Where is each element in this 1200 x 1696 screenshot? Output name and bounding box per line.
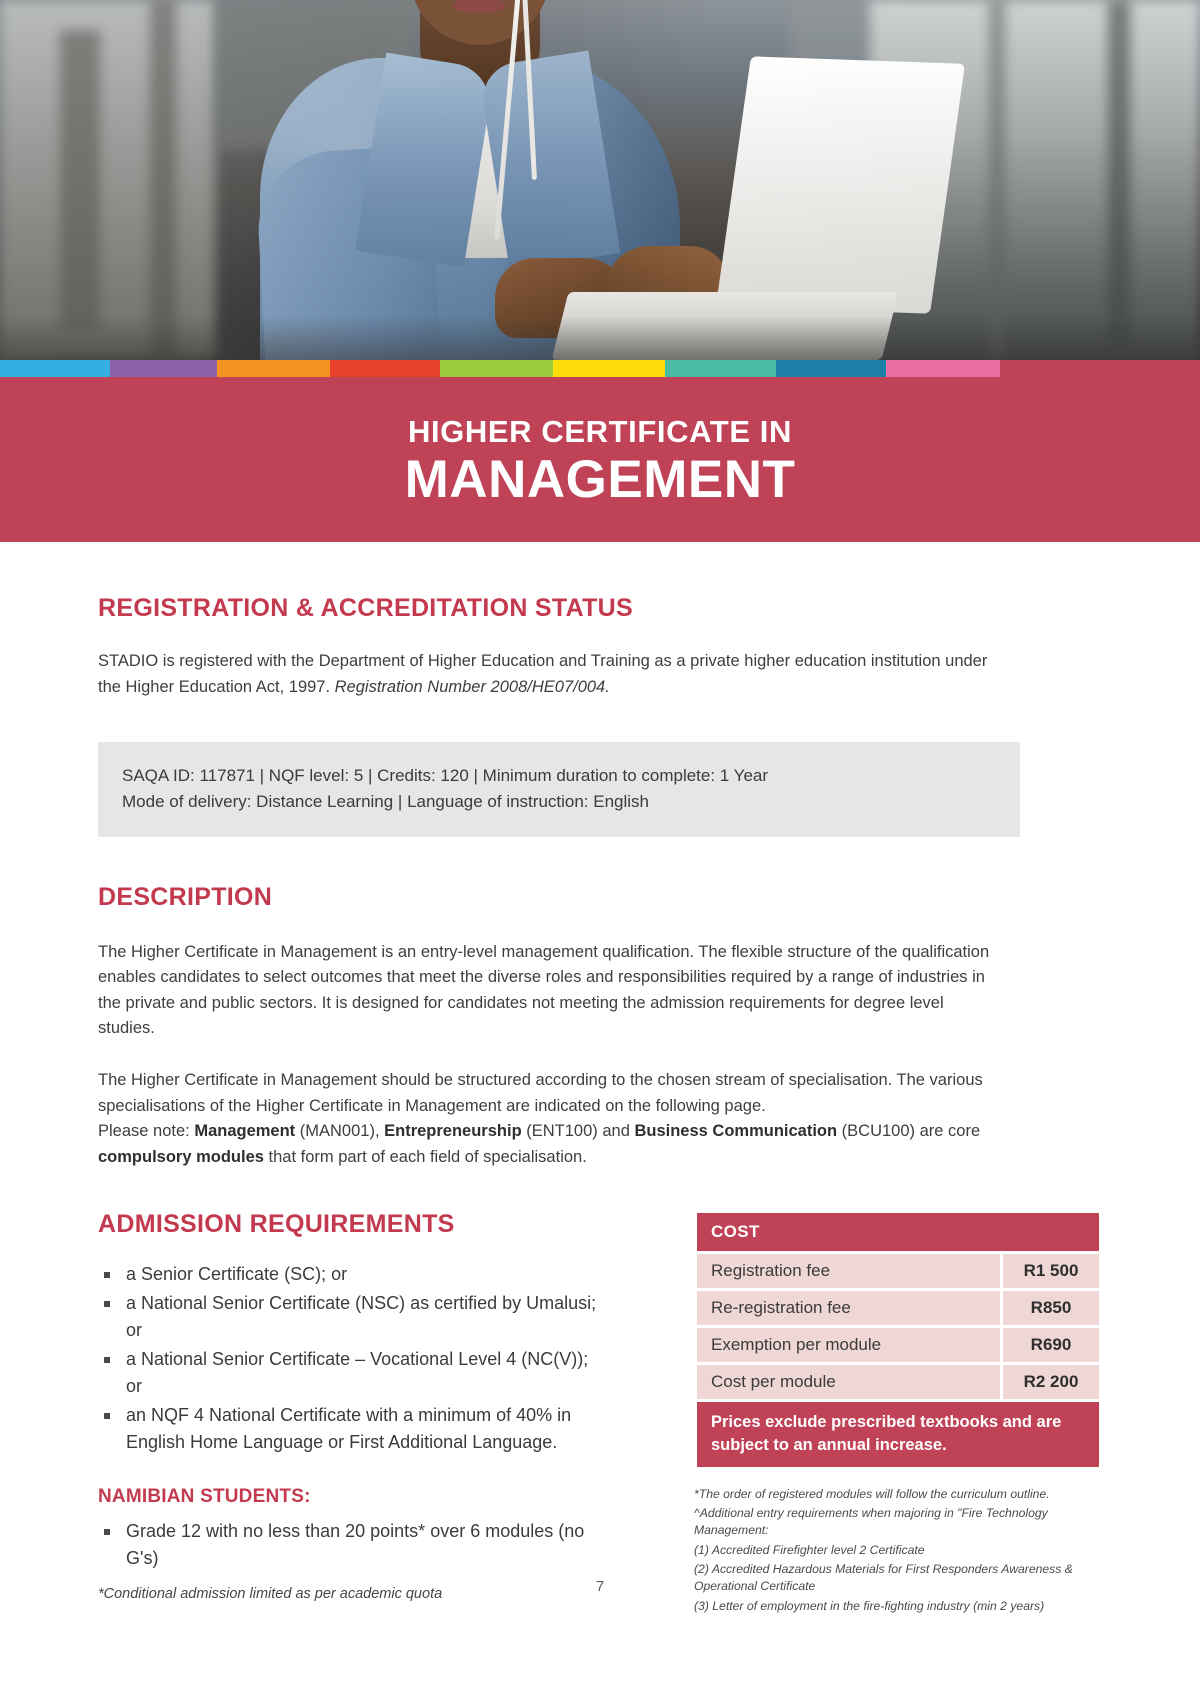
background-pillar-d	[989, 0, 1005, 360]
swatch-purple	[110, 360, 217, 377]
module-name-management: Management	[194, 1122, 295, 1140]
page-number: 7	[0, 1578, 1200, 1595]
namibian-students-heading: NAMIBIAN STUDENTS:	[98, 1486, 598, 1508]
please-note-suffix: that form part of each field of speciali…	[264, 1148, 587, 1166]
background-building-left	[0, 0, 215, 360]
registration-status-paragraph: STADIO is registered with the Department…	[98, 649, 988, 700]
please-note-prefix: Please note:	[98, 1122, 194, 1140]
background-pillar-c	[1108, 0, 1130, 360]
module-code-management: (MAN001),	[295, 1122, 384, 1140]
admission-requirements-heading: ADMISSION REQUIREMENTS	[98, 1210, 598, 1239]
description-heading: DESCRIPTION	[98, 883, 1102, 912]
module-name-entrepreneurship: Entrepreneurship	[384, 1122, 522, 1140]
description-please-note: Please note: Management (MAN001), Entrep…	[98, 1119, 1013, 1170]
module-code-entrepreneurship: (ENT100) and	[522, 1122, 635, 1140]
list-item: a National Senior Certificate (NSC) as c…	[98, 1290, 598, 1344]
cost-table-title: COST	[697, 1213, 1099, 1251]
cost-row-value: R1 500	[1003, 1254, 1099, 1288]
lips	[453, 0, 505, 13]
desk-surface	[0, 316, 1200, 360]
cost-row-label: Re-registration fee	[697, 1291, 1000, 1325]
swatch-pink	[886, 360, 1000, 377]
registration-status-heading: REGISTRATION & ACCREDITATION STATUS	[98, 594, 1102, 623]
list-item: an NQF 4 National Certificate with a min…	[98, 1402, 598, 1456]
info-box-line1: SAQA ID: 117871 | NQF level: 5 | Credits…	[122, 763, 996, 789]
cost-column: COST Registration fee R1 500 Re-registra…	[694, 1210, 1102, 1617]
cost-table-note: Prices exclude prescribed textbooks and …	[697, 1402, 1099, 1467]
swatch-red	[330, 360, 440, 377]
swatch-orange	[217, 360, 330, 377]
admission-requirements-list: a Senior Certificate (SC); or a National…	[98, 1261, 598, 1456]
footnote-5: (3) Letter of employment in the fire-fig…	[694, 1598, 1094, 1615]
compulsory-modules-label: compulsory modules	[98, 1148, 264, 1166]
cost-row-label: Exemption per module	[697, 1328, 1000, 1362]
background-pillar-b	[150, 0, 176, 360]
page-content: REGISTRATION & ACCREDITATION STATUS STAD…	[0, 594, 1200, 1617]
swatch-green	[440, 360, 553, 377]
cost-table: COST Registration fee R1 500 Re-registra…	[694, 1210, 1102, 1470]
list-item: a National Senior Certificate – Vocation…	[98, 1346, 598, 1400]
description-paragraph-1: The Higher Certificate in Management is …	[98, 940, 1003, 1042]
swatch-darkblue	[776, 360, 886, 377]
module-name-business-communication: Business Communication	[634, 1122, 837, 1140]
swatch-yellow	[553, 360, 665, 377]
cost-table-note-row: Prices exclude prescribed textbooks and …	[697, 1402, 1099, 1467]
footnote-3: (1) Accredited Firefighter level 2 Certi…	[694, 1542, 1094, 1559]
page-title-band: HIGHER CERTIFICATE IN MANAGEMENT	[0, 377, 1200, 542]
swatch-teal	[665, 360, 776, 377]
cost-row-value: R850	[1003, 1291, 1099, 1325]
registration-number: Registration Number 2008/HE07/004.	[335, 678, 610, 696]
background-pillar-a	[60, 30, 100, 330]
table-row: Cost per module R2 200	[697, 1365, 1099, 1399]
laptop-screen	[716, 56, 965, 313]
list-item: Grade 12 with no less than 20 points* ov…	[98, 1518, 598, 1572]
cost-row-value: R690	[1003, 1328, 1099, 1362]
admission-requirements-column: ADMISSION REQUIREMENTS a Senior Certific…	[98, 1210, 598, 1617]
cost-row-label: Cost per module	[697, 1365, 1000, 1399]
swatch-crimson	[1000, 360, 1200, 377]
module-code-business-communication: (BCU100) are core	[837, 1122, 980, 1140]
qualification-info-box: SAQA ID: 117871 | NQF level: 5 | Credits…	[98, 742, 1020, 837]
cost-row-value: R2 200	[1003, 1365, 1099, 1399]
page-title-line1: HIGHER CERTIFICATE IN	[408, 416, 792, 447]
footnotes-block: *The order of registered modules will fo…	[694, 1486, 1094, 1615]
list-item: a Senior Certificate (SC); or	[98, 1261, 598, 1288]
cost-table-header-row: COST	[697, 1213, 1099, 1251]
table-row: Re-registration fee R850	[697, 1291, 1099, 1325]
table-row: Exemption per module R690	[697, 1328, 1099, 1362]
hero-image	[0, 0, 1200, 360]
swatch-blue	[0, 360, 110, 377]
info-box-line2: Mode of delivery: Distance Learning | La…	[122, 789, 996, 815]
footnote-2: ^Additional entry requirements when majo…	[694, 1505, 1094, 1540]
description-paragraph-2: The Higher Certificate in Management sho…	[98, 1068, 993, 1119]
footnote-1: *The order of registered modules will fo…	[694, 1486, 1094, 1503]
namibian-students-list: Grade 12 with no less than 20 points* ov…	[98, 1518, 598, 1572]
table-row: Registration fee R1 500	[697, 1254, 1099, 1288]
page-title-line2: MANAGEMENT	[405, 450, 796, 509]
cost-row-label: Registration fee	[697, 1254, 1000, 1288]
brand-color-bar	[0, 360, 1200, 377]
lower-two-column-area: ADMISSION REQUIREMENTS a Senior Certific…	[98, 1210, 1102, 1617]
